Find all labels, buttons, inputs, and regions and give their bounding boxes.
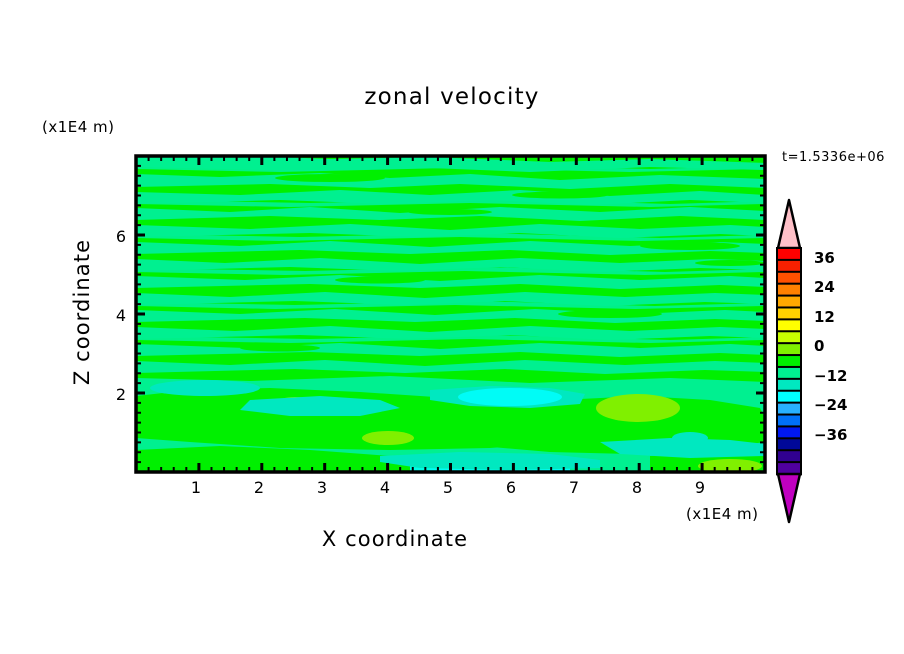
colorbar-label-24: 24 [814, 278, 835, 296]
y-tick-label-4: 4 [106, 306, 126, 325]
colorbar-band [777, 450, 801, 462]
page-title: zonal velocity [0, 84, 904, 110]
colorbar-band [777, 343, 801, 355]
colorbar-band [777, 367, 801, 379]
colorbar-under-arrow [778, 474, 800, 522]
x-tick-label-9: 9 [688, 478, 712, 497]
y-axis-title: Z coordinate [70, 212, 94, 412]
y-tick-label-6: 6 [106, 227, 126, 246]
feature-positive-blob-x7p5 [596, 394, 680, 422]
colorbar-band [777, 331, 801, 343]
y-tick-label-2: 2 [106, 385, 126, 404]
colorbar-band [777, 307, 801, 319]
colorbar-band [777, 355, 801, 367]
colorbar-band [777, 415, 801, 427]
colorbar-band [777, 248, 801, 260]
x-tick-label-5: 5 [436, 478, 460, 497]
x-tick-label-2: 2 [247, 478, 271, 497]
colorbar-band [777, 272, 801, 284]
contour-plot [130, 150, 778, 486]
figure-canvas: zonal velocity (x1E4 m) (x1E4 m) t=1.533… [0, 0, 904, 654]
time-annotation: t=1.5336e+06 [782, 150, 885, 165]
colorbar-band [777, 462, 801, 474]
colorbar-label-36: 36 [814, 249, 835, 267]
x-tick-label-3: 3 [310, 478, 334, 497]
colorbar [772, 196, 828, 526]
x-tick-label-6: 6 [499, 478, 523, 497]
x-tick-label-1: 1 [184, 478, 208, 497]
colorbar-band [777, 391, 801, 403]
x-axis-title: X coordinate [0, 527, 790, 551]
colorbar-band [777, 319, 801, 331]
colorbar-band [777, 260, 801, 272]
colorbar-band [777, 438, 801, 450]
contour-field [136, 156, 765, 473]
colorbar-label-0: 0 [814, 337, 824, 355]
colorbar-band [777, 284, 801, 296]
x-tick-label-8: 8 [625, 478, 649, 497]
colorbar-label-neg36: −36 [814, 426, 847, 444]
colorbar-label-neg24: −24 [814, 396, 847, 414]
colorbar-band [777, 296, 801, 308]
x-tick-label-4: 4 [373, 478, 397, 497]
feature-positive-blob-x4 [362, 431, 414, 445]
y-axis-unit-label: (x1E4 m) [42, 118, 115, 136]
colorbar-label-12: 12 [814, 308, 835, 326]
colorbar-label-neg12: −12 [814, 367, 847, 385]
colorbar-band [777, 426, 801, 438]
colorbar-over-arrow [778, 200, 800, 248]
x-tick-label-7: 7 [562, 478, 586, 497]
colorbar-band [777, 403, 801, 415]
x-axis-unit-label: (x1E4 m) [686, 505, 759, 523]
colorbar-band [777, 379, 801, 391]
